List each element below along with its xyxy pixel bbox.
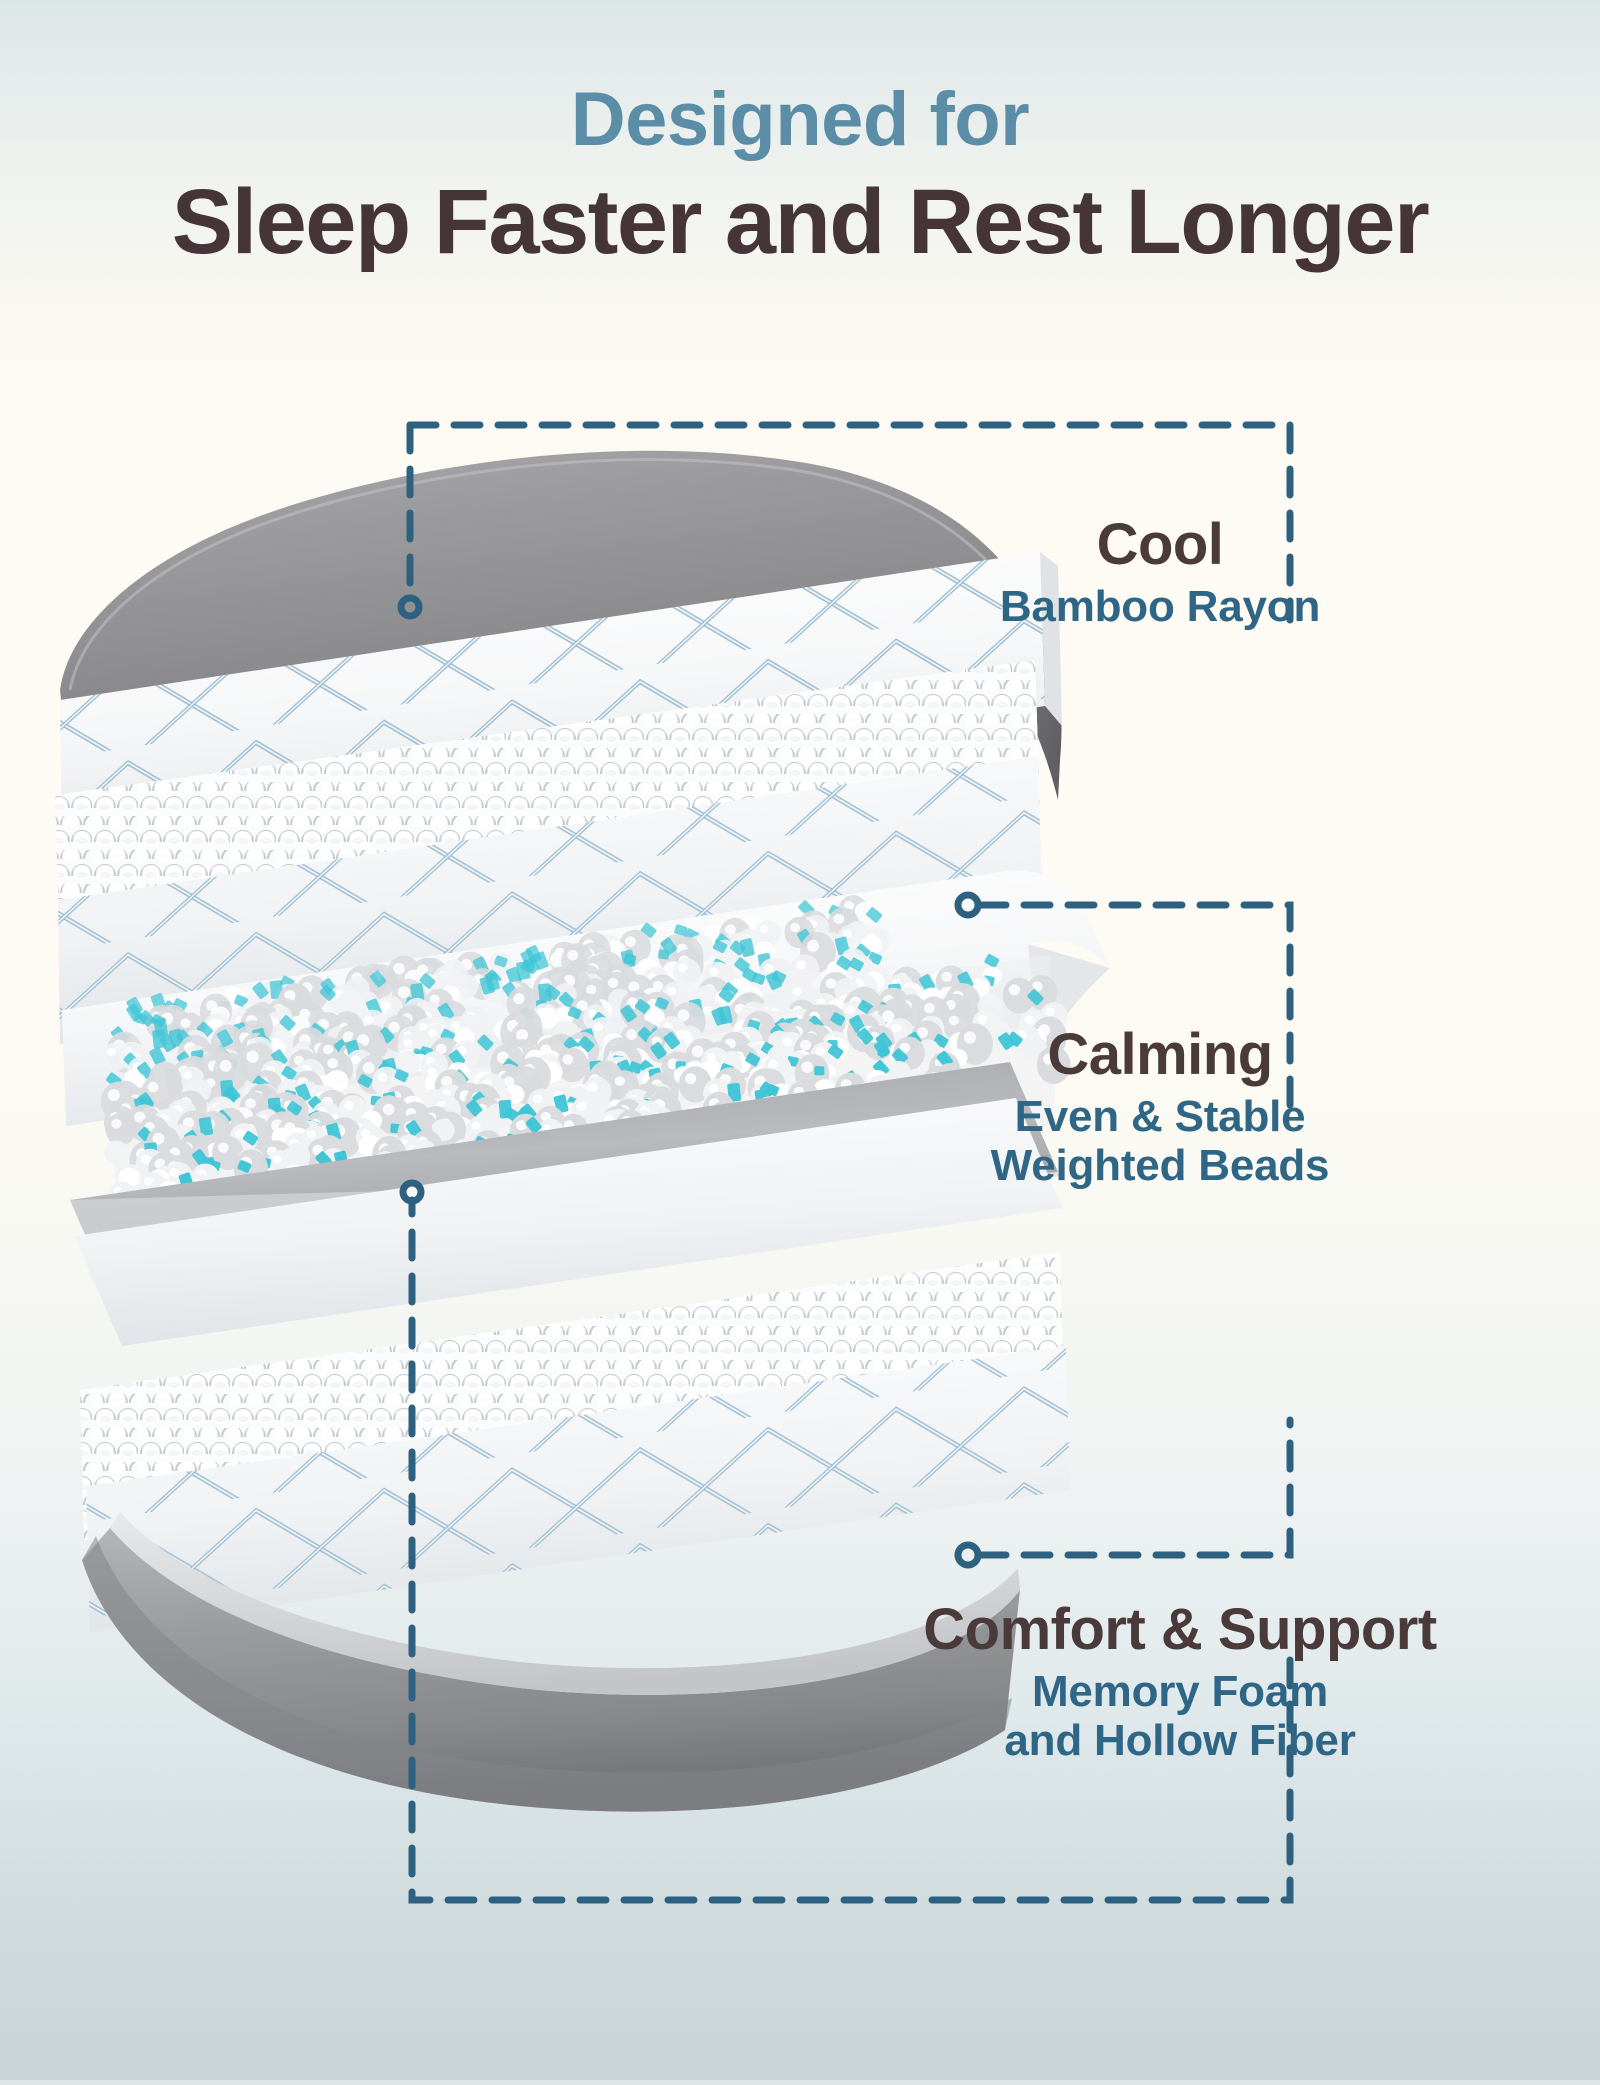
callout-cool-subtitle-line-1: Bamboo Rayon bbox=[880, 582, 1440, 631]
callout-cool-title: Cool bbox=[880, 515, 1440, 576]
callout-comfort-subtitle-line-2: and Hollow Fiber bbox=[860, 1716, 1500, 1765]
callout-calming-title: Calming bbox=[880, 1025, 1440, 1086]
callout-calming-subtitle-line-1: Even & Stable bbox=[880, 1092, 1440, 1141]
callout-comfort-title: Comfort & Support bbox=[860, 1600, 1500, 1661]
callout-calming-subtitle-line-2: Weighted Beads bbox=[880, 1141, 1440, 1190]
callout-calming: Calming Even & Stable Weighted Beads bbox=[880, 1025, 1440, 1190]
callout-comfort: Comfort & Support Memory Foam and Hollow… bbox=[860, 1600, 1500, 1765]
callout-cool: Cool Bamboo Rayon bbox=[880, 515, 1440, 631]
callout-comfort-subtitle-line-1: Memory Foam bbox=[860, 1667, 1500, 1716]
infographic-canvas: Designed for Sleep Faster and Rest Longe… bbox=[0, 0, 1600, 2080]
